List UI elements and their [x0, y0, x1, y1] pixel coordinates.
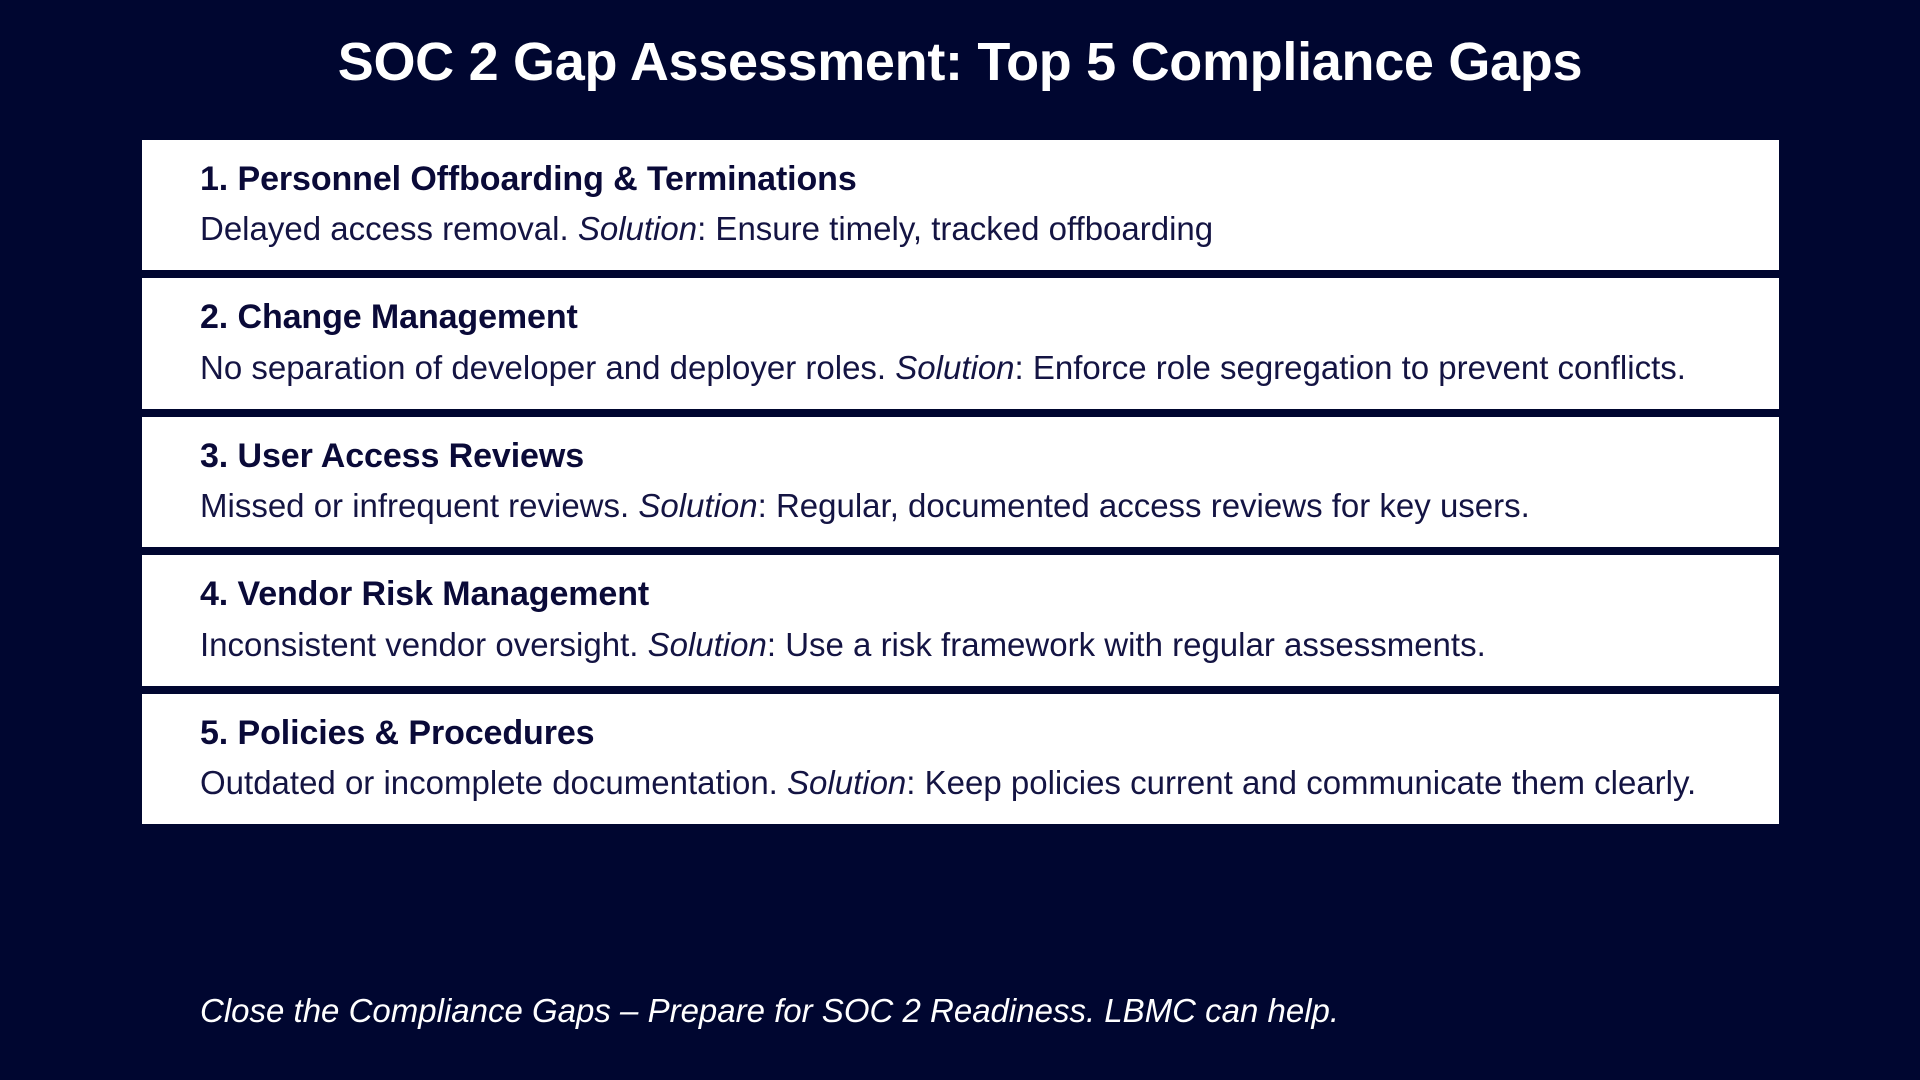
slide-root: SOC 2 Gap Assessment: Top 5 Compliance G… — [0, 0, 1920, 1080]
gap-solution-label: Solution — [787, 764, 906, 801]
gap-body-tail: : Regular, documented access reviews for… — [758, 487, 1530, 524]
gap-body: Missed or infrequent reviews. Solution: … — [200, 483, 1779, 529]
compliance-gap-list: 1. Personnel Offboarding & Terminations … — [142, 140, 1779, 832]
gap-body-lead: Outdated or incomplete documentation. — [200, 764, 787, 801]
list-item: 5. Policies & Procedures Outdated or inc… — [142, 694, 1779, 824]
gap-heading: 3. User Access Reviews — [200, 433, 1779, 479]
gap-body-lead: Inconsistent vendor oversight. — [200, 626, 648, 663]
list-item: 2. Change Management No separation of de… — [142, 278, 1779, 408]
list-item: 4. Vendor Risk Management Inconsistent v… — [142, 555, 1779, 685]
gap-body-lead: Delayed access removal. — [200, 210, 578, 247]
gap-body-tail: : Enforce role segregation to prevent co… — [1015, 349, 1686, 386]
gap-heading: 1. Personnel Offboarding & Terminations — [200, 156, 1779, 202]
gap-body-lead: Missed or infrequent reviews. — [200, 487, 638, 524]
gap-body: Inconsistent vendor oversight. Solution:… — [200, 622, 1779, 668]
gap-heading: 5. Policies & Procedures — [200, 710, 1779, 756]
gap-body-tail: : Ensure timely, tracked offboarding — [697, 210, 1213, 247]
gap-solution-label: Solution — [638, 487, 757, 524]
gap-body: Delayed access removal. Solution: Ensure… — [200, 206, 1779, 252]
gap-body-lead: No separation of developer and deployer … — [200, 349, 895, 386]
gap-body: Outdated or incomplete documentation. So… — [200, 760, 1779, 806]
gap-heading: 2. Change Management — [200, 294, 1779, 340]
gap-solution-label: Solution — [895, 349, 1014, 386]
gap-body-tail: : Use a risk framework with regular asse… — [767, 626, 1486, 663]
gap-solution-label: Solution — [578, 210, 697, 247]
gap-body-tail: : Keep policies current and communicate … — [906, 764, 1696, 801]
call-to-action-note: Close the Compliance Gaps – Prepare for … — [200, 988, 1339, 1034]
gap-heading: 4. Vendor Risk Management — [200, 571, 1779, 617]
gap-body: No separation of developer and deployer … — [200, 345, 1779, 391]
page-title: SOC 2 Gap Assessment: Top 5 Compliance G… — [0, 32, 1920, 92]
gap-solution-label: Solution — [648, 626, 767, 663]
list-item: 3. User Access Reviews Missed or infrequ… — [142, 417, 1779, 547]
list-item: 1. Personnel Offboarding & Terminations … — [142, 140, 1779, 270]
